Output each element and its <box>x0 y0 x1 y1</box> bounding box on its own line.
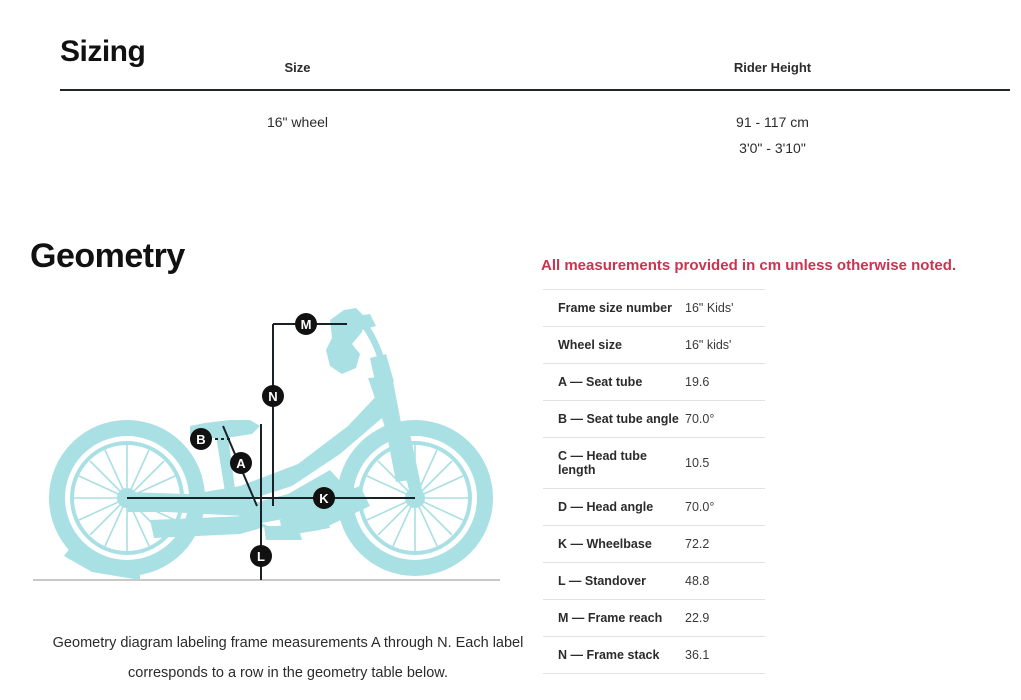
geometry-measurement-note: All measurements provided in cm unless o… <box>541 257 956 274</box>
geometry-row-label: K — Wheelbase <box>543 526 685 563</box>
diagram-label-K: K <box>313 487 335 509</box>
geometry-row-value: 10.5 <box>685 438 765 489</box>
table-row: 16" wheel 91 - 117 cm 3'0" - 3'10" <box>60 90 1010 167</box>
geometry-row-value: 16" Kids' <box>685 290 765 327</box>
geometry-row-label: Frame size number <box>543 290 685 327</box>
rider-height-imperial: 3'0" - 3'10" <box>535 135 1010 161</box>
svg-text:A: A <box>236 456 246 471</box>
sizing-table: Size Rider Height 16" wheel 91 - 117 cm … <box>60 60 1010 167</box>
svg-text:N: N <box>268 389 277 404</box>
sizing-table-header-row: Size Rider Height <box>60 60 1010 90</box>
geometry-row-label: B — Seat tube angle <box>543 401 685 438</box>
sizing-column-header-size: Size <box>60 60 535 90</box>
table-row: Frame size number 16" Kids' <box>543 290 765 327</box>
geometry-row-value: 70.0° <box>685 401 765 438</box>
sizing-cell-rider-height: 91 - 117 cm 3'0" - 3'10" <box>535 90 1010 167</box>
geometry-row-value: 16" kids' <box>685 327 765 364</box>
geometry-row-label: D — Head angle <box>543 489 685 526</box>
rider-height-metric: 91 - 117 cm <box>535 109 1010 135</box>
table-row: D — Head angle 70.0° <box>543 489 765 526</box>
geometry-table: Frame size number 16" Kids' Wheel size 1… <box>543 289 765 674</box>
diagram-label-L: L <box>250 545 272 567</box>
table-row: Wheel size 16" kids' <box>543 327 765 364</box>
table-row: A — Seat tube 19.6 <box>543 364 765 401</box>
table-row: M — Frame reach 22.9 <box>543 600 765 637</box>
geometry-row-label: Wheel size <box>543 327 685 364</box>
diagram-caption: Geometry diagram labeling frame measurem… <box>38 628 538 688</box>
diagram-label-M: M <box>295 313 317 335</box>
geometry-row-label: A — Seat tube <box>543 364 685 401</box>
geometry-row-value: 48.8 <box>685 563 765 600</box>
svg-text:K: K <box>319 491 329 506</box>
geometry-diagram: M N B A K L <box>30 258 530 608</box>
sizing-cell-size: 16" wheel <box>60 90 535 167</box>
table-row: L — Standover 48.8 <box>543 563 765 600</box>
table-row: C — Head tube length 10.5 <box>543 438 765 489</box>
table-row: B — Seat tube angle 70.0° <box>543 401 765 438</box>
geometry-row-value: 70.0° <box>685 489 765 526</box>
diagram-label-N: N <box>262 385 284 407</box>
diagram-label-A: A <box>230 452 252 474</box>
table-row: N — Frame stack 36.1 <box>543 637 765 674</box>
table-row: K — Wheelbase 72.2 <box>543 526 765 563</box>
geometry-row-value: 72.2 <box>685 526 765 563</box>
svg-text:L: L <box>257 549 265 564</box>
geometry-row-value: 22.9 <box>685 600 765 637</box>
geometry-table-body: Frame size number 16" Kids' Wheel size 1… <box>543 290 765 674</box>
bike-silhouette <box>49 308 493 580</box>
sizing-column-header-rider-height: Rider Height <box>535 60 1010 90</box>
geometry-row-value: 19.6 <box>685 364 765 401</box>
svg-text:B: B <box>196 432 205 447</box>
geometry-row-value: 36.1 <box>685 637 765 674</box>
geometry-row-label: M — Frame reach <box>543 600 685 637</box>
diagram-label-B: B <box>190 428 212 450</box>
geometry-row-label: L — Standover <box>543 563 685 600</box>
svg-text:M: M <box>301 317 312 332</box>
geometry-row-label: C — Head tube length <box>543 438 685 489</box>
geometry-row-label: N — Frame stack <box>543 637 685 674</box>
